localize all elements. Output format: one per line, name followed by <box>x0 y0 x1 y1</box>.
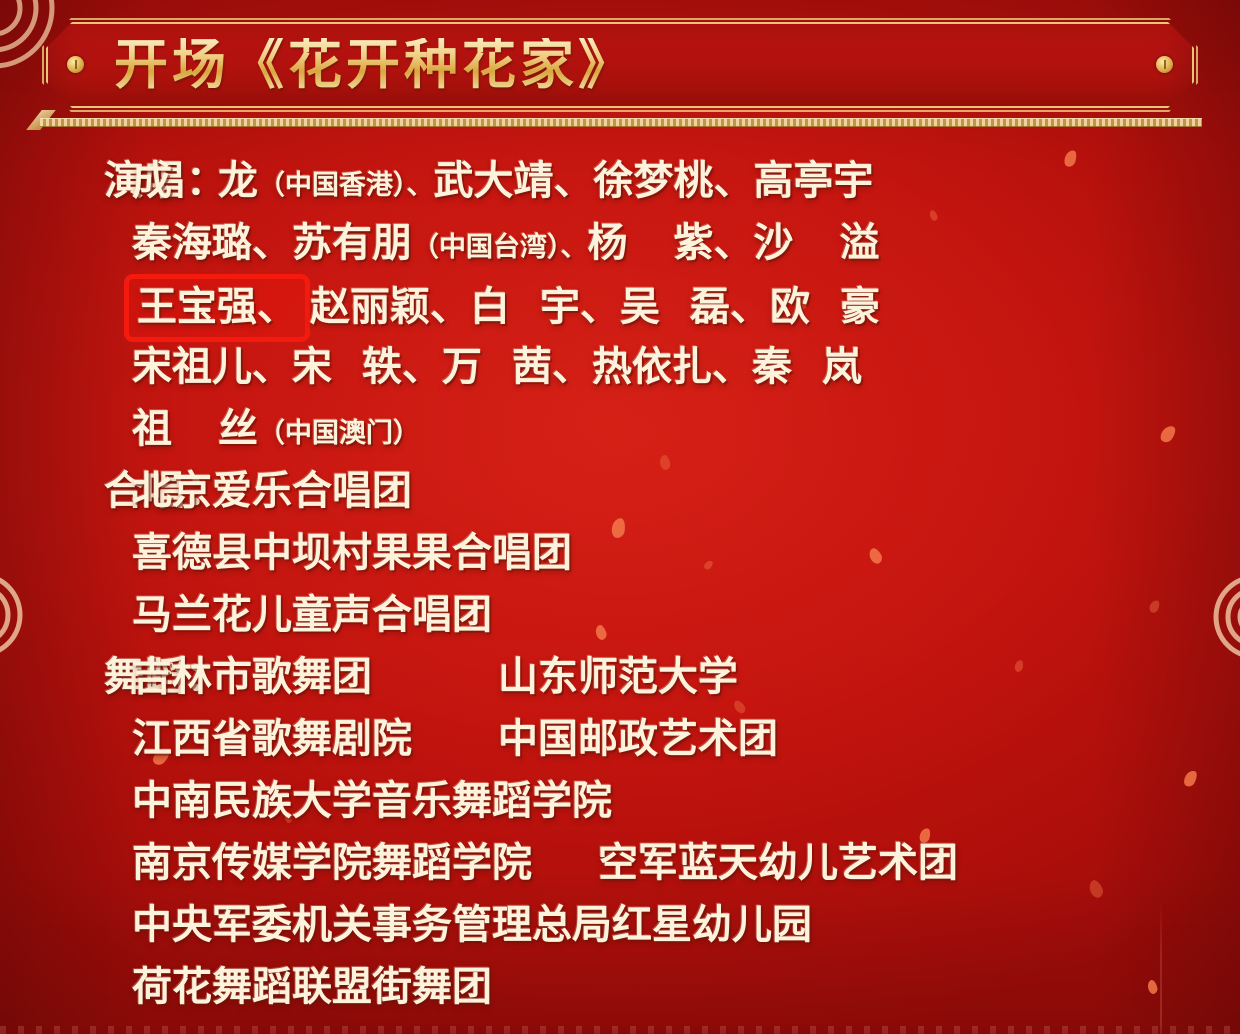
value-cell: 荷花舞蹈联盟街舞团 <box>120 956 1240 1018</box>
performer-name: 祖 <box>132 407 172 451</box>
chorus-group: 北京爱乐合唱团 <box>132 469 412 513</box>
page-title: 开场《花开种花家》 <box>114 38 636 92</box>
label-cell: 演唱： <box>0 150 120 212</box>
dance-group: 山东师范大学 <box>498 655 738 699</box>
performer-name: 轶、万 <box>362 345 482 389</box>
credit-row-singers-5: 祖丝（中国澳门） <box>0 398 1240 460</box>
singers-line: 王宝强、赵丽颖、白宇、吴磊、欧豪 <box>132 285 880 329</box>
value-cell: 秦海璐、苏有朋（中国台湾）、杨紫、沙溢 <box>120 212 1240 278</box>
value-cell: 吉林市歌舞团山东师范大学 <box>120 646 1240 708</box>
singers-line: 秦海璐、苏有朋（中国台湾）、杨紫、沙溢 <box>132 221 880 265</box>
program-credits-screen: 开场《花开种花家》 演唱： 成龙（中国香港）、武大靖、徐梦桃、高亭宇 秦海璐、苏… <box>0 0 1240 1034</box>
value-cell: 马兰花儿童声合唱团 <box>120 584 1240 646</box>
credit-row-singers-3: 王宝强、赵丽颖、白宇、吴磊、欧豪 <box>0 274 1240 336</box>
performer-name: 紫、沙 <box>674 221 794 265</box>
title-plaque: 开场《花开种花家》 <box>46 22 1194 108</box>
value-cell: 江西省歌舞剧院中国邮政艺术团 <box>120 708 1240 770</box>
singers-line: 宋祖儿、宋轶、万茜、热依扎、秦岚 <box>132 345 862 389</box>
performer-name: 岚 <box>822 345 862 389</box>
credit-row-dance-2: 江西省歌舞剧院中国邮政艺术团 <box>0 708 1240 770</box>
value-cell: 王宝强、赵丽颖、白宇、吴磊、欧豪 <box>120 274 1240 342</box>
value-cell: 成龙（中国香港）、武大靖、徐梦桃、高亭宇 <box>120 150 1240 216</box>
performer-name: 武大靖、徐梦桃、高亭宇 <box>434 159 874 203</box>
label-cell: 舞蹈： <box>0 646 120 708</box>
region-note: （中国台湾）、 <box>412 232 588 262</box>
chorus-group: 喜德县中坝村果果合唱团 <box>132 531 572 575</box>
performer-name: 龙 <box>218 159 258 203</box>
performer-name: 宇、吴 <box>540 285 660 329</box>
singers-line: 祖丝（中国澳门） <box>132 407 420 451</box>
credit-row-singers-4: 宋祖儿、宋轶、万茜、热依扎、秦岚 <box>0 336 1240 398</box>
chorus-group: 马兰花儿童声合唱团 <box>132 593 492 637</box>
value-cell: 祖丝（中国澳门） <box>120 398 1240 464</box>
dance-group: 江西省歌舞剧院 <box>132 708 432 770</box>
credit-row-dance-3: 中南民族大学音乐舞蹈学院 <box>0 770 1240 832</box>
bottom-edge-shadow <box>0 1024 1240 1034</box>
value-cell: 南京传媒学院舞蹈学院空军蓝天幼儿艺术团 <box>120 832 1240 894</box>
credit-row-dance-6: 荷花舞蹈联盟街舞团 <box>0 956 1240 1018</box>
value-cell: 北京爱乐合唱团 <box>120 460 1240 522</box>
credit-row-dance-1: 舞蹈： 吉林市歌舞团山东师范大学 <box>0 646 1240 708</box>
performer-name: 秦海璐、苏有朋 <box>132 221 412 265</box>
dance-group: 南京传媒学院舞蹈学院 <box>132 841 532 885</box>
credits-list: 演唱： 成龙（中国香港）、武大靖、徐梦桃、高亭宇 秦海璐、苏有朋（中国台湾）、杨… <box>0 150 1240 1018</box>
performer-name: 丝 <box>218 407 258 451</box>
dance-group: 空军蓝天幼儿艺术团 <box>598 841 958 885</box>
value-cell: 中南民族大学音乐舞蹈学院 <box>120 770 1240 832</box>
credit-row-chorus-1: 合唱： 北京爱乐合唱团 <box>0 460 1240 522</box>
region-note: （中国澳门） <box>258 418 420 448</box>
credit-row-chorus-3: 马兰花儿童声合唱团 <box>0 584 1240 646</box>
highlighted-performer-name[interactable]: 王宝强、 <box>124 274 310 342</box>
performer-name: 茜、热依扎、秦 <box>512 345 792 389</box>
performer-name: 宋祖儿、宋 <box>132 345 332 389</box>
performer-name: 溢 <box>840 221 880 265</box>
performer-name: 杨 <box>588 221 628 265</box>
value-cell: 喜德县中坝村果果合唱团 <box>120 522 1240 584</box>
credit-row-singers-1: 演唱： 成龙（中国香港）、武大靖、徐梦桃、高亭宇 <box>0 150 1240 212</box>
value-cell: 中央军委机关事务管理总局红星幼儿园 <box>120 894 1240 956</box>
bottom-dot-trim <box>0 1026 1240 1034</box>
credit-row-dance-5: 中央军委机关事务管理总局红星幼儿园 <box>0 894 1240 956</box>
credit-row-singers-2: 秦海璐、苏有朋（中国台湾）、杨紫、沙溢 <box>0 212 1240 274</box>
performer-name: 磊、欧 <box>690 285 810 329</box>
dance-group: 荷花舞蹈联盟街舞团 <box>132 965 492 1009</box>
dance-line: 吉林市歌舞团山东师范大学 <box>132 655 738 699</box>
value-cell: 宋祖儿、宋轶、万茜、热依扎、秦岚 <box>120 336 1240 398</box>
gold-stud-icon <box>67 56 84 73</box>
dance-line: 南京传媒学院舞蹈学院空军蓝天幼儿艺术团 <box>132 841 958 885</box>
performer-name: 赵丽颖、白 <box>310 285 510 329</box>
performer-name: 豪 <box>840 285 880 329</box>
singers-line: 成龙（中国香港）、武大靖、徐梦桃、高亭宇 <box>132 159 874 203</box>
credit-row-dance-4: 南京传媒学院舞蹈学院空军蓝天幼儿艺术团 <box>0 832 1240 894</box>
plaque-beaded-rule <box>40 118 1202 127</box>
dance-group: 中南民族大学音乐舞蹈学院 <box>132 779 612 823</box>
dance-group: 中国邮政艺术团 <box>498 717 778 761</box>
dance-group: 吉林市歌舞团 <box>132 646 432 708</box>
performer-name: 成 <box>132 159 172 203</box>
gold-stud-icon <box>1156 56 1173 73</box>
label-cell: 合唱： <box>0 460 120 522</box>
dance-line: 江西省歌舞剧院中国邮政艺术团 <box>132 717 778 761</box>
region-note: （中国香港）、 <box>258 170 434 200</box>
credit-row-chorus-2: 喜德县中坝村果果合唱团 <box>0 522 1240 584</box>
dance-group: 中央军委机关事务管理总局红星幼儿园 <box>132 903 812 947</box>
